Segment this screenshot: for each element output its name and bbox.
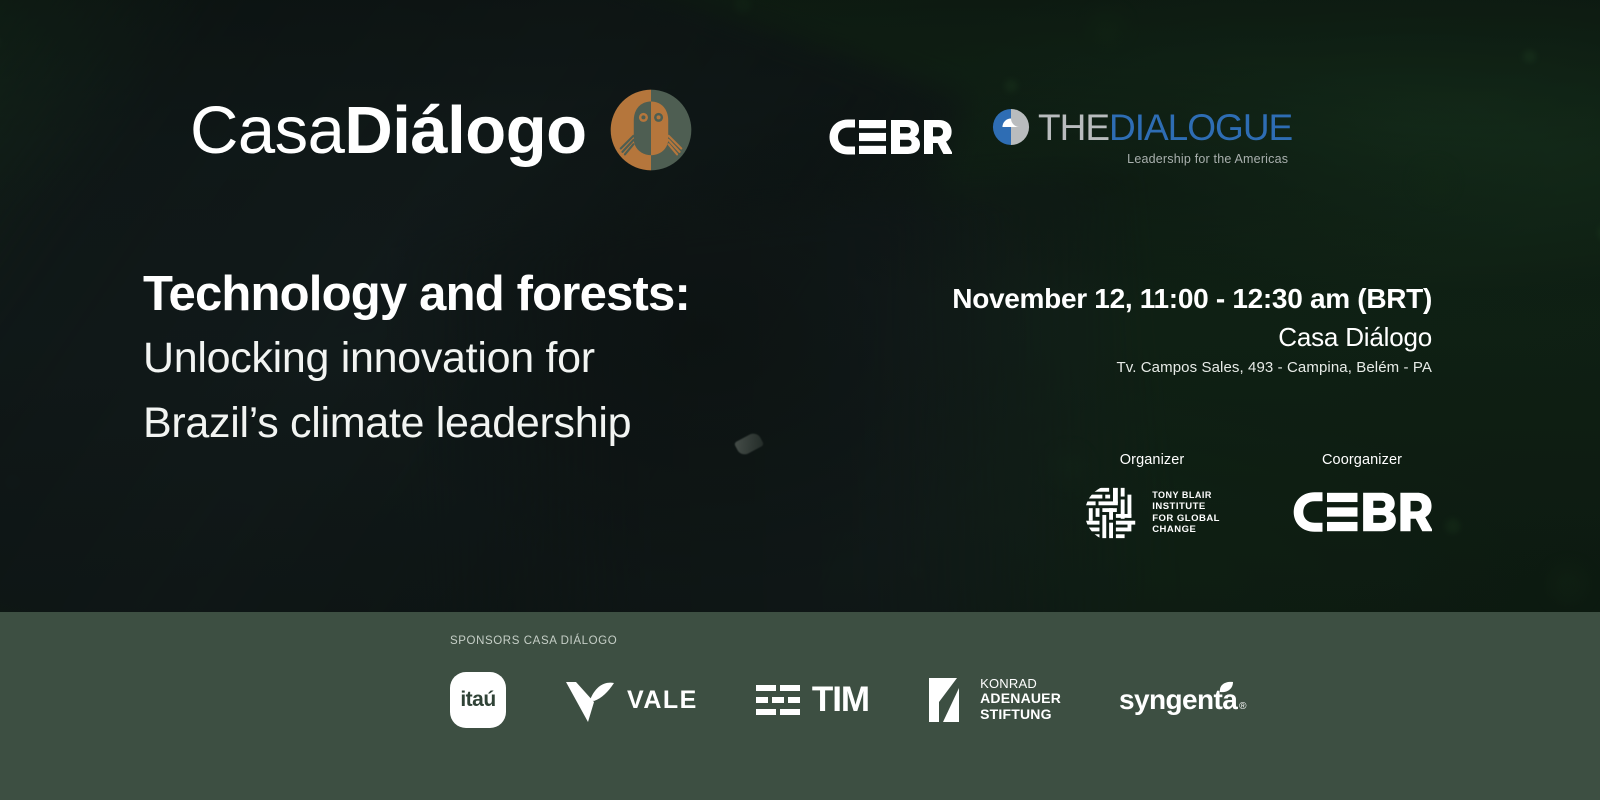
top-partner-logos: THEDIALOGUE Leadership for the Americas … xyxy=(828,108,1292,166)
itau-wordmark: itaú xyxy=(460,688,495,712)
coorganizer-column: Coorganizer xyxy=(1292,452,1432,534)
tbi-name-line2: INSTITUTE xyxy=(1152,501,1220,513)
kas-line2: ADENAUER xyxy=(980,691,1061,707)
the-dialogue-logo: THEDIALOGUE Leadership for the Americas xyxy=(992,108,1292,166)
event-venue: Casa Diálogo xyxy=(952,322,1432,353)
frog-emblem-icon xyxy=(609,88,693,172)
dialogue-the-text: THE xyxy=(1038,109,1109,146)
headline-block: Technology and forests: Unlocking innova… xyxy=(143,268,690,451)
kas-line3: STIFTUNG xyxy=(980,707,1061,723)
casa-dialogo-wordmark: CasaDiálogo xyxy=(190,97,587,164)
coorganizer-label: Coorganizer xyxy=(1322,452,1402,468)
konrad-adenauer-stiftung-logo-icon: KONRAD ADENAUER STIFTUNG xyxy=(927,676,1061,724)
tbi-name-line3: FOR GLOBAL xyxy=(1152,513,1220,525)
sponsors-label: SPONSORS CASA DIÁLOGO xyxy=(450,635,617,647)
syngenta-registered-mark: ® xyxy=(1239,701,1246,712)
dialogue-tagline: Leadership for the Americas xyxy=(1127,152,1288,166)
tony-blair-institute-icon xyxy=(1084,484,1142,542)
vale-wordmark: VALE xyxy=(627,686,698,715)
vale-logo-icon: VALE xyxy=(564,676,698,724)
cebri-wordmark-icon xyxy=(1292,490,1432,534)
dialogue-dialogue-text: DIALOGUE xyxy=(1109,109,1292,146)
syngenta-logo-icon: syngenta ® xyxy=(1119,684,1247,716)
brand-name-bold: Diálogo xyxy=(344,93,586,168)
organizer-label: Organizer xyxy=(1120,452,1185,468)
dialogue-circle-icon xyxy=(992,108,1030,146)
syngenta-leaf-icon xyxy=(1218,681,1234,695)
brand-name-light: Casa xyxy=(190,93,344,168)
tim-wordmark: TIM xyxy=(812,680,869,720)
event-date: November 12, 11:00 - 12:30 am (BRT) xyxy=(952,283,1432,315)
tony-blair-institute-logo: TONY BLAIR INSTITUTE FOR GLOBAL CHANGE xyxy=(1084,484,1220,542)
vale-v-swoosh-icon xyxy=(564,676,616,724)
page-title: Technology and forests: xyxy=(143,268,690,321)
page-subtitle-line2: Brazil’s climate leadership xyxy=(143,396,690,451)
organizer-column: Organizer xyxy=(1084,452,1220,542)
page-subtitle-line1: Unlocking innovation for xyxy=(143,331,690,386)
kas-line1: KONRAD xyxy=(980,677,1061,692)
tim-dashes-icon xyxy=(756,683,802,717)
itau-logo-icon: itaú xyxy=(450,672,506,728)
event-details: November 12, 11:00 - 12:30 am (BRT) Casa… xyxy=(952,283,1432,376)
tim-logo-icon: TIM xyxy=(756,680,869,720)
sponsor-logos-row: itaú VALE TIM xyxy=(450,672,1247,728)
event-poster: CasaDiálogo xyxy=(0,0,1600,800)
tbi-name-line4: CHANGE xyxy=(1152,524,1220,536)
organizer-row: Organizer xyxy=(1084,452,1432,542)
event-address: Tv. Campos Sales, 493 - Campina, Belém -… xyxy=(952,359,1432,376)
cebri-wordmark-icon xyxy=(828,118,952,156)
tbi-name-line1: TONY BLAIR xyxy=(1152,490,1220,501)
casa-dialogo-logo: CasaDiálogo xyxy=(190,88,693,172)
kas-flag-icon xyxy=(927,676,971,724)
